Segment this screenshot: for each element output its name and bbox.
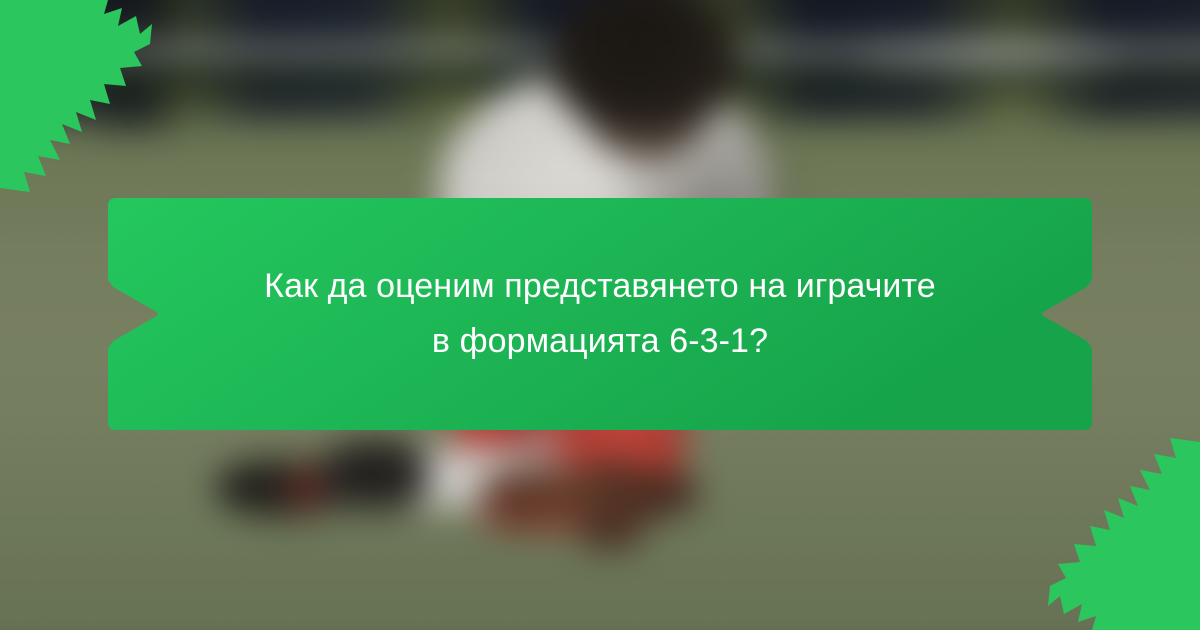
headline-line-1: Как да оценим представянето на играчите [264,259,936,314]
headline-line-2: в формацията 6-3-1? [432,314,768,369]
headline-banner: Как да оценим представянето на играчите … [108,198,1092,430]
banner-headline: Как да оценим представянето на играчите … [108,198,1092,430]
social-card: Как да оценим представянето на играчите … [0,0,1200,630]
